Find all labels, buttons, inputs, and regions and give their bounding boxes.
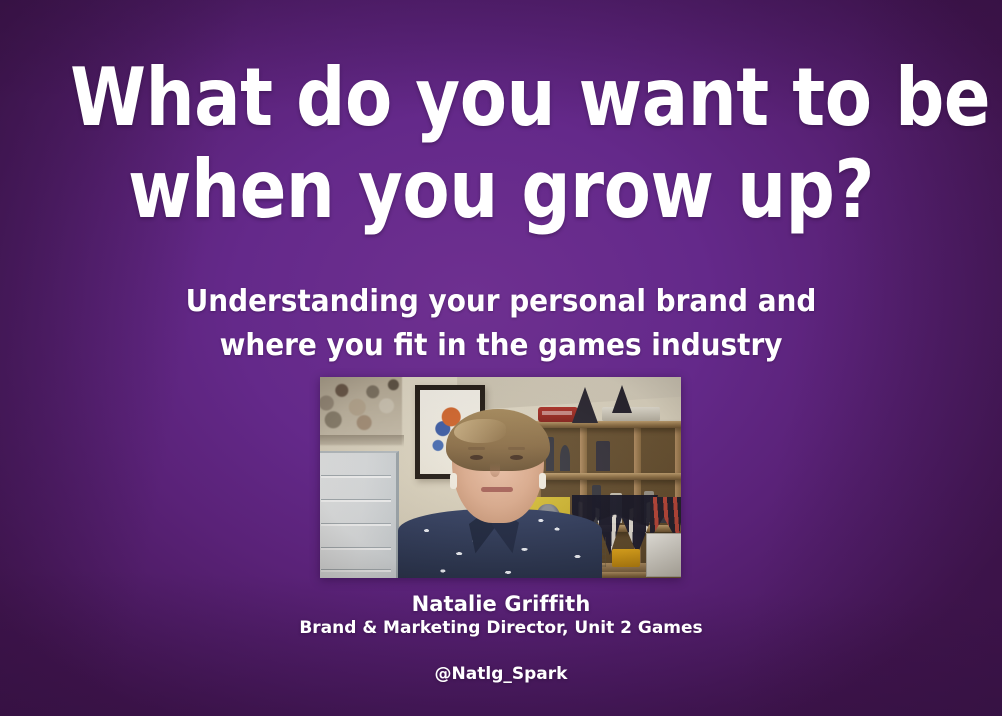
photo-color-grade [320, 377, 681, 578]
speaker-role: Brand & Marketing Director, Unit 2 Games [0, 617, 1002, 640]
speaker-name: Natalie Griffith [0, 592, 1002, 617]
slide-title: What do you want to be when you grow up? [70, 52, 932, 236]
slide-subtitle: Understanding your personal brand and wh… [35, 280, 967, 368]
slide-title-line-2: when you grow up? [70, 144, 932, 236]
slide-subtitle-line-2: where you fit in the games industry [35, 324, 967, 368]
speaker-webcam-photo [320, 377, 681, 578]
presentation-slide: What do you want to be when you grow up?… [0, 0, 1002, 716]
speaker-social-handle: @Natlg_Spark [0, 663, 1002, 685]
slide-title-line-1: What do you want to be [70, 52, 932, 144]
slide-subtitle-line-1: Understanding your personal brand and [35, 280, 967, 324]
speaker-credit-block: Natalie Griffith Brand & Marketing Direc… [0, 592, 1002, 685]
